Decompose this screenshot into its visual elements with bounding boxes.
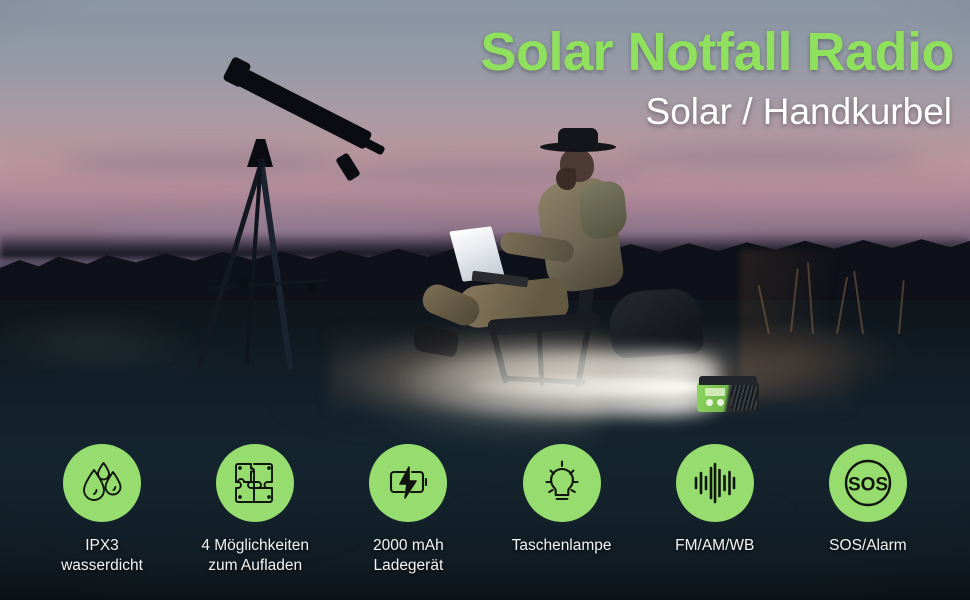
water-drops-icon — [77, 458, 127, 508]
feature-label: 2000 mAh Ladegerät — [373, 536, 444, 577]
feature-item-battery: 2000 mAh Ladegerät — [334, 444, 482, 594]
feature-icon-badge — [676, 444, 754, 522]
feature-item-waterproof: IPX3 wasserdicht — [28, 444, 176, 594]
feature-list: IPX3 wasserdicht — [0, 444, 970, 594]
feature-label: IPX3 wasserdicht — [61, 536, 143, 577]
feature-label: FM/AM/WB — [675, 536, 754, 556]
light-bulb-icon — [537, 458, 587, 508]
radio-display — [705, 388, 725, 396]
product-banner: Solar Notfall Radio Solar / Handkurbel I… — [0, 0, 970, 600]
radio-knob — [717, 399, 724, 406]
tripod-knob — [309, 283, 318, 292]
radio-speaker-grille — [731, 385, 757, 410]
person-hood — [577, 180, 629, 241]
radio-waves-icon — [690, 458, 740, 508]
radio-knob — [706, 399, 713, 406]
feature-item-flashlight: Taschenlampe — [488, 444, 636, 594]
svg-text:SOS: SOS — [848, 475, 888, 496]
feature-item-sos: SOS SOS/Alarm — [794, 444, 942, 594]
telescope-eyepiece — [335, 152, 361, 181]
feature-item-charging-methods: 4 Möglichkeiten zum Aufladen — [181, 444, 329, 594]
hat-brim — [540, 142, 616, 152]
backpack — [608, 287, 704, 359]
feature-icon-badge — [523, 444, 601, 522]
battery-charge-icon — [383, 458, 433, 508]
tripod-leg — [258, 159, 293, 370]
feature-label: SOS/Alarm — [829, 536, 907, 556]
flashlight-beam-core — [470, 378, 700, 396]
feature-icon-badge: SOS — [829, 444, 907, 522]
tripod-knob — [239, 279, 248, 288]
telescope — [215, 55, 415, 375]
radio-solar-panel — [699, 376, 757, 385]
feature-item-radio-bands: FM/AM/WB — [641, 444, 789, 594]
feature-label: 4 Möglichkeiten zum Aufladen — [201, 536, 309, 577]
emergency-radio-product — [697, 376, 759, 412]
page-title: Solar Notfall Radio — [480, 24, 954, 81]
page-subtitle: Solar / Handkurbel — [646, 92, 952, 133]
feature-icon-badge — [63, 444, 141, 522]
feature-icon-badge — [369, 444, 447, 522]
feature-label: Taschenlampe — [512, 536, 612, 556]
puzzle-pieces-icon — [231, 459, 279, 507]
person-beard — [556, 168, 576, 190]
sos-circle-icon: SOS — [841, 456, 895, 510]
feature-icon-badge — [216, 444, 294, 522]
